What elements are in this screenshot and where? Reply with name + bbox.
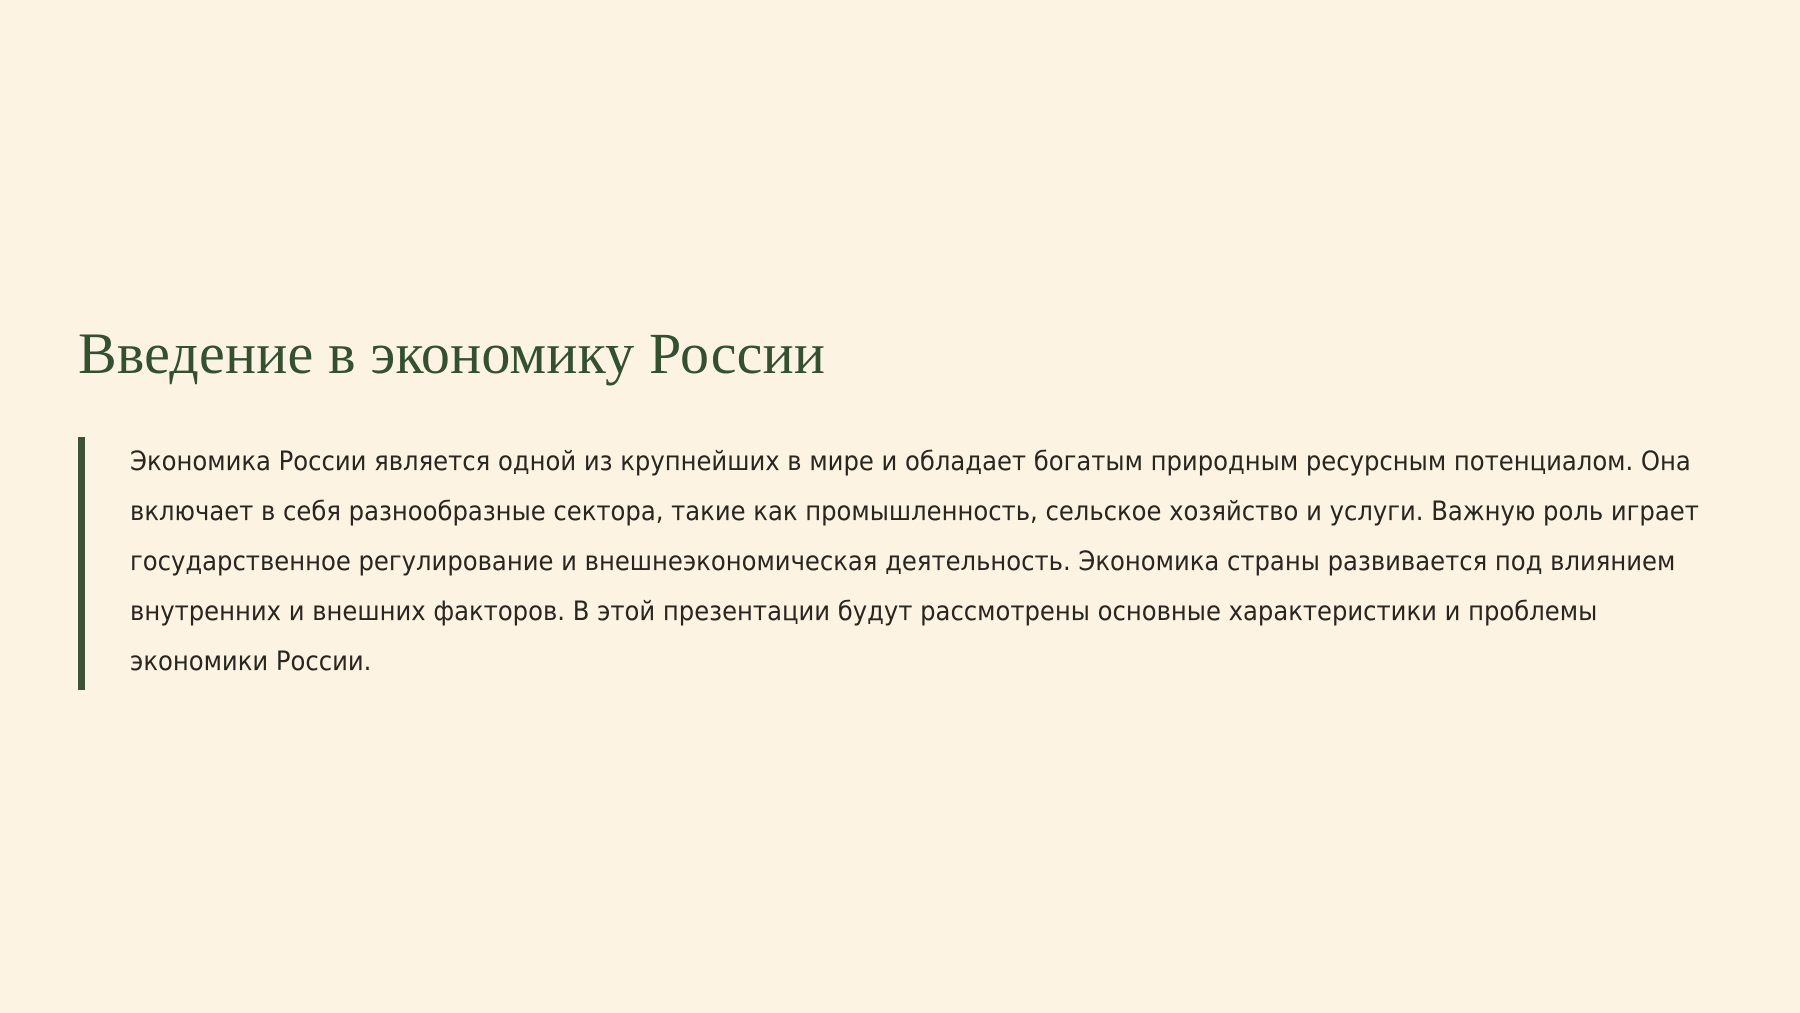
body-paragraph: Экономика России является одной из крупн… <box>85 437 1728 690</box>
presentation-slide: Введение в экономику России Экономика Ро… <box>0 0 1800 1013</box>
body-text-block: Экономика России является одной из крупн… <box>78 437 1728 690</box>
left-accent-bar <box>78 437 85 690</box>
page-title: Введение в экономику России <box>78 322 825 387</box>
slide-content-area: Введение в экономику России Экономика Ро… <box>78 0 1738 1013</box>
